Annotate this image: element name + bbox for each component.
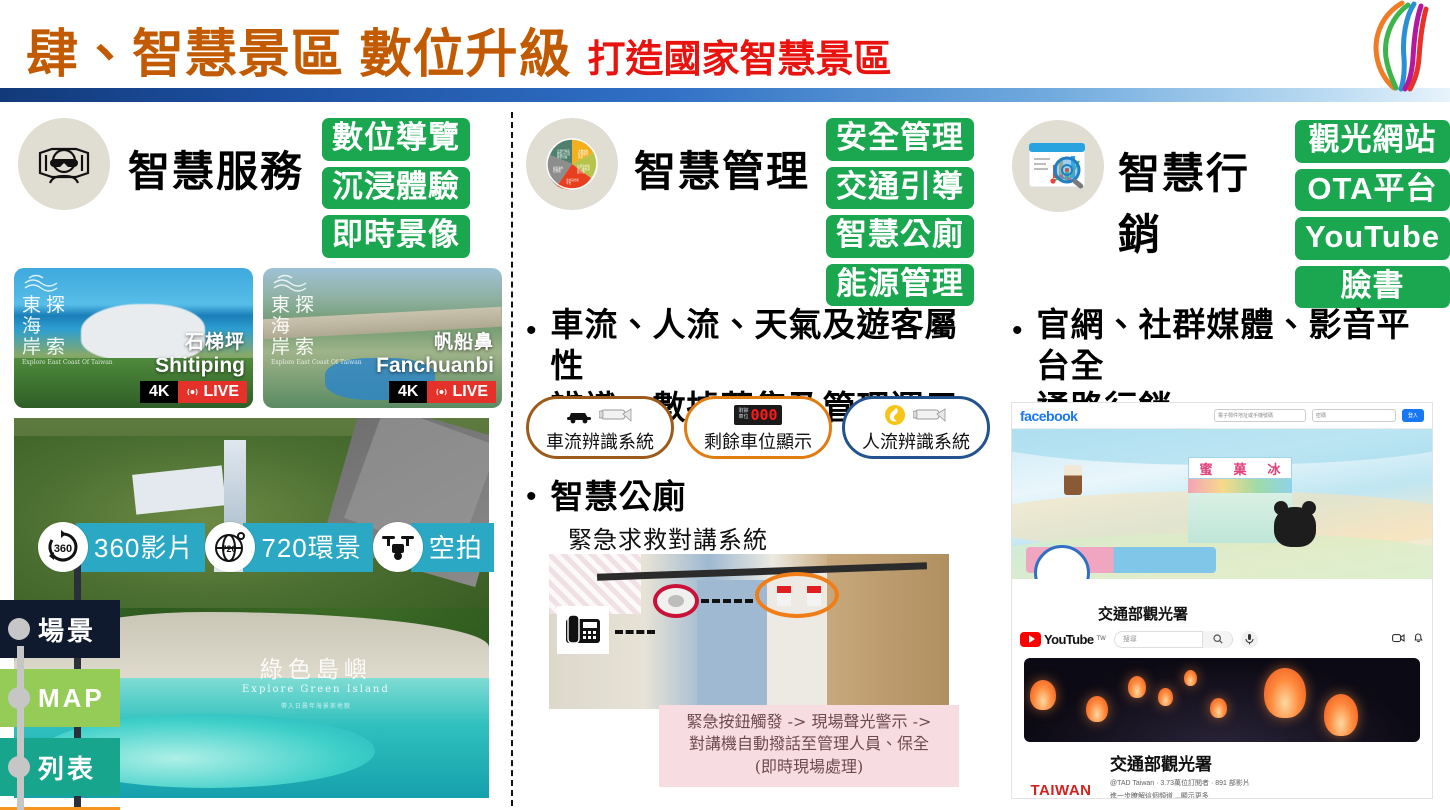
emergency-button-highlight	[755, 572, 839, 618]
sky-lanterns-banner	[1024, 658, 1420, 742]
note-line-2: 對講機自動撥話至管理人員、保全	[667, 733, 951, 755]
nav-item-label: MAP	[38, 683, 105, 714]
lantern	[1030, 680, 1056, 710]
lantern	[1158, 688, 1173, 706]
system-chip-label: 車流辨識系統	[546, 428, 654, 454]
chip-smart-restroom[interactable]: 智慧公廁	[826, 215, 974, 258]
svg-text:360: 360	[54, 543, 72, 555]
east-coast-watermark: 東海岸 探·索 Explore East Coast Of Taiwan	[22, 278, 113, 366]
facebook-cover-image: 蜜 菓 冰	[1012, 429, 1432, 579]
badge-360-video[interactable]: 360 360影片	[38, 522, 205, 572]
youtube-play-icon	[1020, 632, 1041, 647]
person-icon	[884, 404, 910, 426]
chip-facebook[interactable]: 臉書	[1295, 266, 1450, 309]
cam-label-shitiping: 石梯坪 Shitiping	[155, 327, 245, 378]
microphone-icon[interactable]	[1241, 631, 1258, 648]
youtube-search-input[interactable]: 搜尋	[1115, 634, 1203, 644]
badge-live-text: LIVE	[203, 383, 239, 401]
smart-marketing-title: 智慧行銷	[1118, 120, 1281, 262]
east-coast-watermark-en: Explore East Coast Of Taiwan	[22, 360, 113, 366]
cam-badges: 4K LIVE	[389, 381, 496, 403]
broadcast-icon	[186, 387, 199, 397]
cam-name-zh: 帆船鼻	[376, 327, 494, 354]
svg-text:運用: 運用	[578, 155, 584, 159]
media-type-badges: 360 360影片 720 72	[38, 522, 494, 572]
note-line-1: 緊急按鈕觸發 -> 現場聲光警示 ->	[667, 711, 951, 733]
cam-name-en: Fanchuanbi	[376, 354, 494, 378]
chip-youtube[interactable]: YouTube	[1295, 217, 1450, 260]
live-cam-shitiping[interactable]: 東海岸 探·索 Explore East Coast Of Taiwan 石梯坪…	[14, 268, 253, 408]
shop-sign-char-1: 蜜	[1199, 459, 1212, 478]
badge-live-text: LIVE	[452, 383, 488, 401]
bullet-smart-restroom: • 智慧公廁	[526, 470, 687, 518]
speaker-grill	[668, 595, 684, 607]
search-icon[interactable]	[1202, 631, 1232, 648]
badge-360-label: 360影片	[76, 523, 205, 572]
lantern	[1324, 694, 1358, 736]
shop-awning	[1188, 479, 1292, 493]
badge-720-label: 720環景	[243, 523, 372, 572]
nav-node	[8, 687, 30, 709]
system-chip-traffic-detection[interactable]: 車流辨識系統	[526, 396, 674, 459]
live-cam-cards: 東海岸 探·索 Explore East Coast Of Taiwan 石梯坪…	[14, 268, 502, 408]
analytics-magnifier-icon	[1012, 120, 1104, 212]
svg-text:720: 720	[222, 544, 237, 554]
drone-icon	[373, 522, 423, 572]
page-title-sub: 打造國家智慧景區	[587, 28, 891, 83]
car-icon	[566, 406, 596, 424]
bullet-camera-icon	[913, 406, 949, 424]
column-smart-management: 公部門與民間協力人員專業培養 大數據與智慧觀光運用 六業導中智慧、數位基礎升級 …	[512, 108, 1000, 810]
badge-720-panorama[interactable]: 720 720環景	[205, 522, 372, 572]
person-camera-icon	[884, 402, 949, 428]
smart-management-header: 公部門與民間協力人員專業培養 大數據與智慧觀光運用 六業導中智慧、數位基礎升級 …	[526, 118, 974, 306]
lantern	[1086, 696, 1108, 722]
chip-ota-platform[interactable]: OTA平台	[1295, 169, 1450, 212]
bullet-line-1: 車流、人流、天氣及遊客屬性	[551, 306, 959, 384]
emergency-button-1	[777, 586, 791, 606]
360-rotate-icon: 360	[38, 522, 88, 572]
car-camera-icon	[566, 402, 635, 428]
facebook-email-input[interactable]: 電子郵件地址或手機號碼	[1214, 409, 1306, 422]
wall-tiles	[827, 554, 949, 709]
column-smart-marketing: 智慧行銷 觀光網站 OTA平台 YouTube 臉書 • 官網、社群媒體、影音平…	[1000, 108, 1450, 810]
shop-sign: 蜜 菓 冰	[1188, 457, 1292, 479]
svg-text:礎升級: 礎升級	[577, 170, 585, 174]
decorative-tile-pattern	[549, 554, 641, 614]
youtube-channel-meta: @TAD Taiwan · 3.73萬位訂閱者 · 891 部影片	[1110, 778, 1250, 788]
youtube-wordmark: YouTube	[1044, 632, 1093, 647]
live-cam-fanchuanbi[interactable]: 東海岸 探·索 Explore East Coast Of Taiwan 帆船鼻…	[263, 268, 502, 408]
smart-management-chips: 安全管理 交通引導 智慧公廁 能源管理	[826, 118, 974, 306]
bubble-tea-illustration	[1064, 465, 1082, 495]
youtube-search-box[interactable]: 搜尋	[1114, 631, 1234, 648]
lantern	[1128, 676, 1146, 698]
note-line-3: (即時現場處理)	[667, 756, 951, 778]
cam-label-fanchuanbi: 帆船鼻 Fanchuanbi	[376, 327, 494, 378]
taiwan-wordmark: TAIWAN	[1030, 782, 1091, 798]
slide-header: 肆、智慧景區 數位升級 打造國家智慧景區	[0, 0, 1450, 108]
slide-root: 肆、智慧景區 數位升級 打造國家智慧景區	[0, 0, 1450, 810]
badge-aerial[interactable]: 空拍	[373, 522, 494, 572]
nav-node	[8, 618, 30, 640]
watermark-tiny: 帶入日晨年海景美地貌	[242, 701, 390, 710]
led-tag: 剩餘車位	[738, 409, 748, 420]
page-title: 肆、智慧景區 數位升級 打造國家智慧景區	[26, 12, 891, 87]
bullet-dot: •	[1012, 304, 1023, 346]
led-parking-display-icon: 剩餘車位 000	[734, 402, 781, 428]
bullet-dot: •	[526, 470, 537, 512]
chip-energy-management[interactable]: 能源管理	[826, 264, 974, 307]
badge-live: LIVE	[178, 381, 247, 403]
youtube-logo[interactable]: YouTube TW	[1020, 632, 1106, 647]
watermark-en: Explore Green Island	[242, 684, 390, 695]
notifications-bell-icon[interactable]	[1413, 630, 1424, 648]
720-panorama-icon: 720	[205, 522, 255, 572]
chip-traffic-guidance[interactable]: 交通引導	[826, 167, 974, 210]
chip-immersive-experience[interactable]: 沉浸體驗	[322, 167, 470, 210]
broadcast-icon	[435, 387, 448, 397]
led-panel: 剩餘車位 000	[734, 405, 781, 425]
green-island-watermark: 綠色島嶼 Explore Green Island 帶入日晨年海景美地貌	[242, 650, 390, 710]
smart-marketing-chips: 觀光網站 OTA平台 YouTube 臉書	[1295, 120, 1450, 308]
east-coast-watermark: 東海岸 探·索 Explore East Coast Of Taiwan	[271, 278, 362, 366]
system-chip-people-detection[interactable]: 人流辨識系統	[842, 396, 990, 459]
content-columns: 智慧服務 數位導覽 沉浸體驗 即時景像	[0, 108, 1450, 810]
bullet-dot: •	[526, 304, 537, 346]
smart-marketing-header: 智慧行銷 觀光網站 OTA平台 YouTube 臉書	[1012, 120, 1450, 308]
youtube-top-bar: YouTube TW 搜尋	[1012, 624, 1432, 654]
puzzle-circle-icon: 公部門與民間協力人員專業培養 大數據與智慧觀光運用 六業導中智慧、數位基礎升級 …	[526, 118, 618, 210]
svg-text:專業培養: 專業培養	[557, 155, 568, 159]
watermark-zh: 綠色島嶼	[242, 650, 390, 684]
restroom-subtitle: 緊急求救對講系統	[568, 520, 768, 555]
alarm-speaker-highlight	[653, 584, 699, 618]
nav-item-label: 場景	[38, 611, 96, 648]
system-chip-label: 人流辨識系統	[862, 428, 970, 454]
lantern	[1264, 668, 1306, 718]
bullet-text: 智慧公廁	[551, 470, 687, 518]
taiwan-brand-logo: TAIWAN WAVES OF WONDER	[1024, 750, 1098, 798]
flow-arrow-left	[615, 630, 655, 634]
svg-text:管理應: 管理應	[553, 169, 561, 173]
shop-sign-char-2: 菓	[1233, 459, 1246, 478]
chip-digital-guide[interactable]: 數位導覽	[322, 118, 470, 161]
facebook-top-bar: facebook 電子郵件地址或手機號碼 密碼 登入	[1012, 403, 1432, 429]
shop-sign-char-3: 冰	[1267, 459, 1280, 478]
facebook-login-button[interactable]: 登入	[1402, 409, 1424, 422]
lantern	[1184, 670, 1197, 686]
create-video-icon[interactable]	[1392, 630, 1405, 648]
smart-service-chips: 數位導覽 沉浸體驗 即時景像	[322, 118, 470, 258]
system-chip-label: 剩餘車位顯示	[704, 428, 812, 454]
nav-tag-stack: 場景 MAP 列表 導覽	[0, 600, 130, 810]
facebook-password-input[interactable]: 密碼	[1312, 409, 1396, 422]
header-gradient-bar	[0, 88, 1450, 102]
facebook-logo: facebook	[1020, 408, 1077, 424]
detection-system-chips: 車流辨識系統 剩餘車位 000 剩餘車位顯示	[526, 396, 990, 459]
nav-node	[8, 756, 30, 778]
badge-4k: 4K	[389, 381, 427, 403]
taiwan-tourism-ribbon-logo	[1350, 0, 1442, 92]
badge-aerial-label: 空拍	[411, 523, 494, 572]
east-coast-watermark-en: Explore East Coast Of Taiwan	[271, 360, 362, 366]
youtube-region: TW	[1096, 636, 1105, 642]
social-media-screenshots: facebook 電子郵件地址或手機號碼 密碼 登入 蜜 菓	[1012, 403, 1432, 798]
bullet-line-1: 官網、社群媒體、影音平台全	[1037, 306, 1411, 384]
smart-management-title: 智慧管理	[634, 118, 810, 199]
bullet-camera-icon	[599, 406, 635, 424]
flow-arrow-right	[701, 599, 753, 603]
youtube-channel-name: 交通部觀光署	[1110, 750, 1250, 775]
youtube-channel-text: 交通部觀光署 @TAD Taiwan · 3.73萬位訂閱者 · 891 部影片…	[1110, 750, 1250, 798]
smart-service-title: 智慧服務	[128, 118, 304, 199]
badge-live: LIVE	[427, 381, 496, 403]
youtube-channel-description[interactable]: 進一步瞭解這個頻道 ...顯示更多	[1110, 791, 1250, 798]
chip-live-view[interactable]: 即時景像	[322, 215, 470, 258]
chip-safety-management[interactable]: 安全管理	[826, 118, 974, 161]
svg-text:平台: 平台	[566, 181, 572, 185]
nav-item-label: 列表	[38, 749, 96, 786]
emergency-button-2	[807, 586, 821, 606]
column-smart-service: 智慧服務 數位導覽 沉浸體驗 即時景像	[0, 108, 512, 810]
facebook-page-name: 交通部觀光署	[1012, 579, 1432, 624]
nav-connector	[17, 646, 24, 810]
cam-name-en: Shitiping	[155, 354, 245, 378]
black-bear-mascot	[1274, 507, 1316, 547]
intercom-phone-icon	[557, 606, 609, 654]
led-value: 000	[750, 406, 777, 424]
system-chip-parking-display[interactable]: 剩餘車位 000 剩餘車位顯示	[684, 396, 832, 459]
vr-headset-icon	[18, 118, 110, 210]
lantern	[1210, 698, 1227, 718]
cam-badges: 4K LIVE	[140, 381, 247, 403]
chip-tourism-website[interactable]: 觀光網站	[1295, 120, 1450, 163]
smart-service-header: 智慧服務 數位導覽 沉浸體驗 即時景像	[18, 118, 470, 258]
page-title-main: 肆、智慧景區 數位升級	[26, 12, 571, 87]
youtube-channel-info: TAIWAN WAVES OF WONDER 交通部觀光署 @TAD Taiwa…	[1012, 742, 1432, 798]
smart-toilet-emergency-photo	[549, 554, 949, 709]
badge-4k: 4K	[140, 381, 178, 403]
cam-name-zh: 石梯坪	[155, 327, 245, 354]
emergency-flow-note: 緊急按鈕觸發 -> 現場聲光警示 -> 對講機自動撥話至管理人員、保全 (即時現…	[659, 705, 959, 787]
